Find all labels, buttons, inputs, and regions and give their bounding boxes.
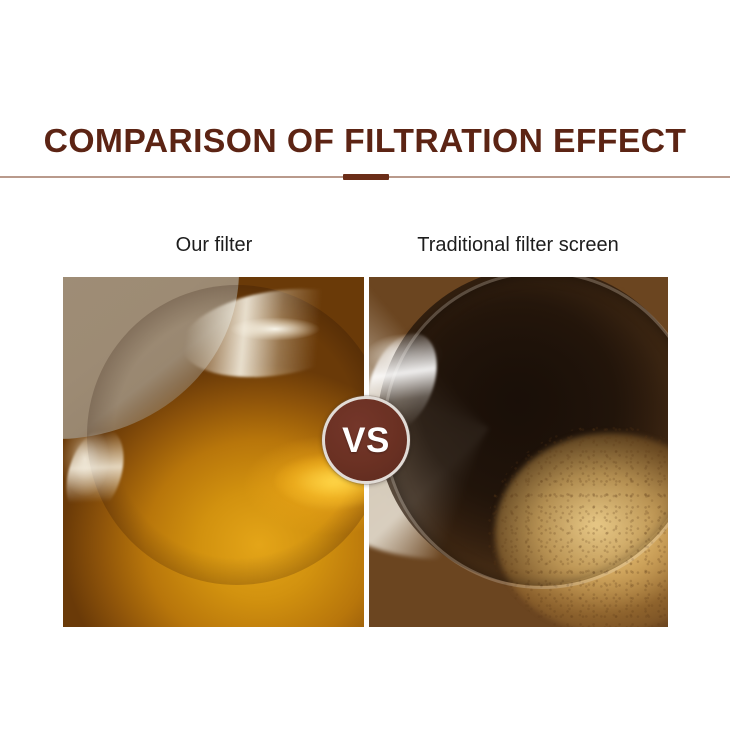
photo-our-filter-surface [63, 277, 364, 627]
divider-accent-segment [343, 174, 389, 180]
vs-badge-label: VS [342, 423, 390, 458]
vs-badge: VS [322, 396, 410, 484]
panel-label-traditional-filter-screen: Traditional filter screen [368, 233, 668, 257]
photo-traditional-filter-screen-surface [369, 277, 668, 627]
photo-traditional-filter-screen [369, 277, 668, 627]
title-divider [0, 174, 730, 181]
panel-label-our-filter: Our filter [63, 233, 365, 257]
page-title: COMPARISON OF FILTRATION EFFECT [0, 122, 730, 160]
photo-our-filter [63, 277, 364, 627]
